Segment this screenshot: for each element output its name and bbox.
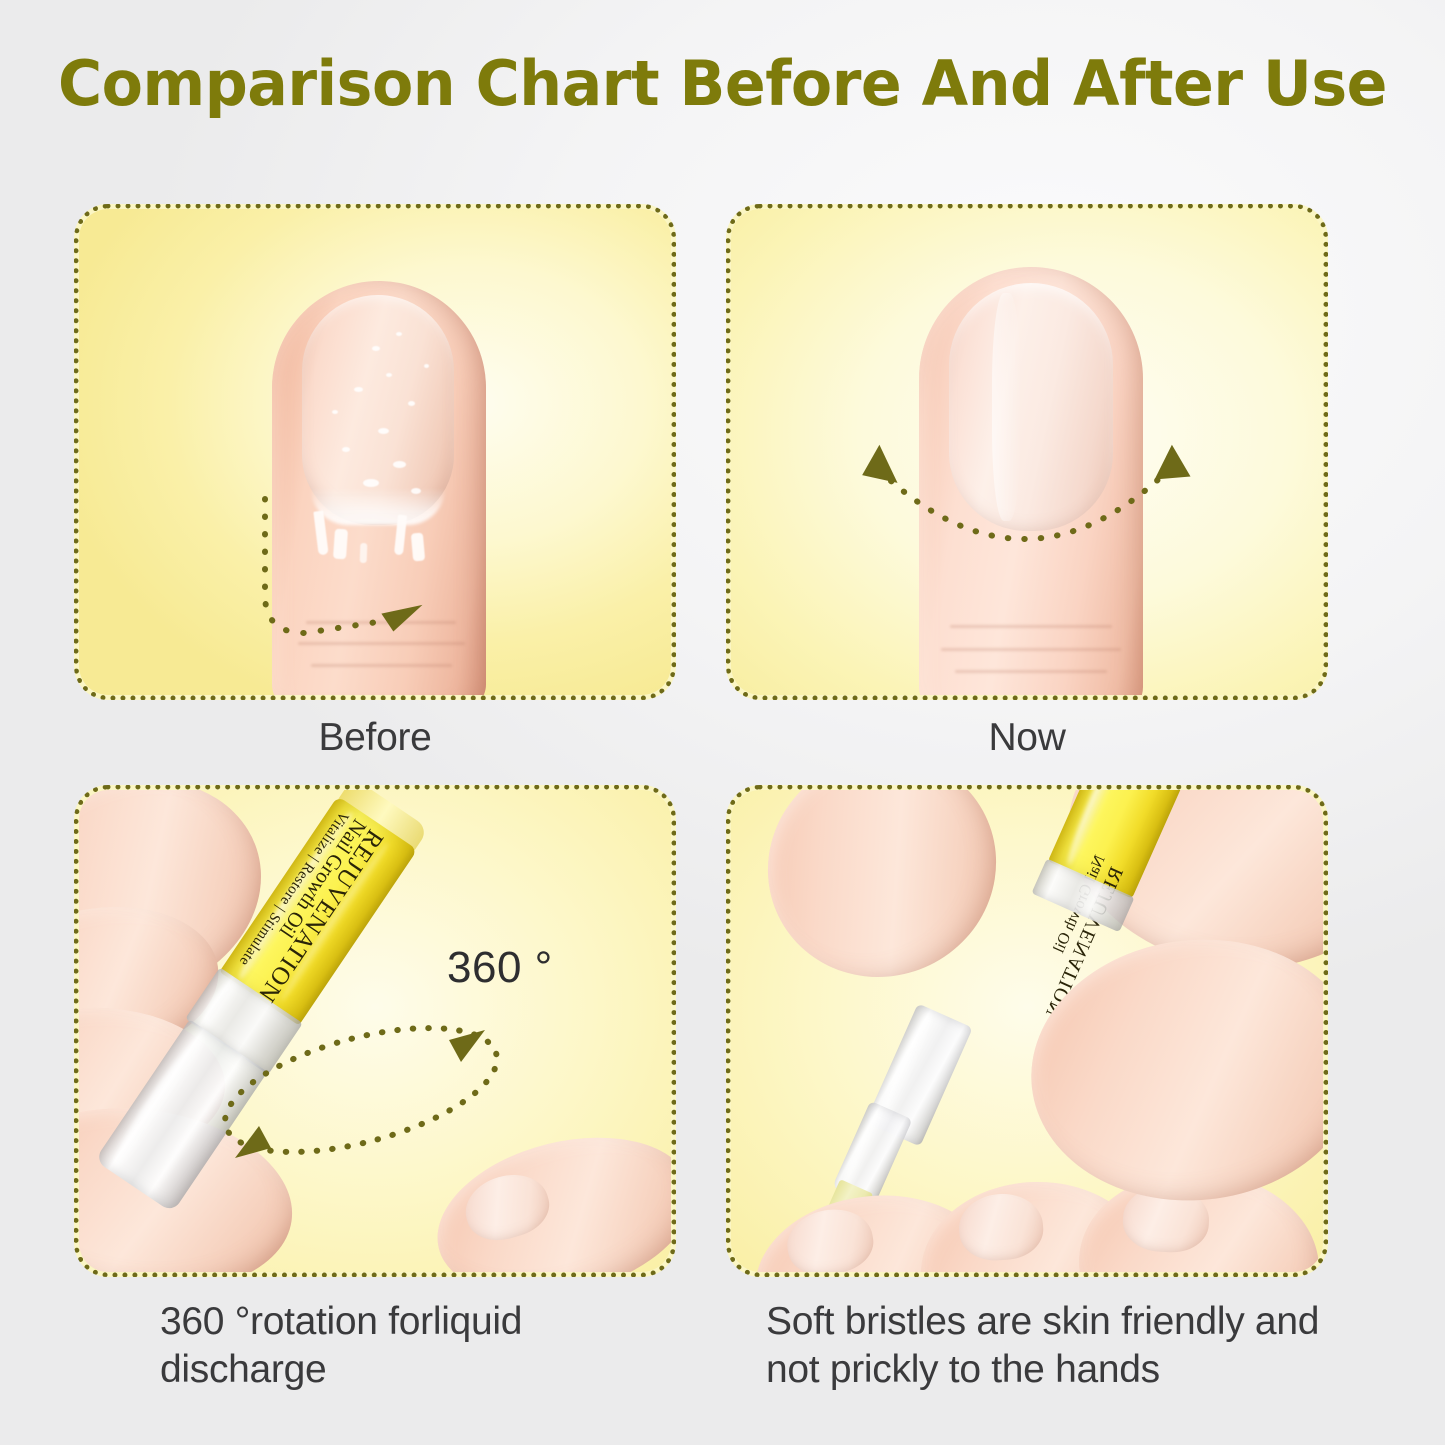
page-title: Comparison Chart Before And After Use [22,46,1424,122]
finger-now-image [919,267,1143,695]
cuticle-damage [300,509,460,587]
panel-before [74,204,676,700]
infographic-page: Comparison Chart Before And After Use [0,0,1445,1445]
caption-now: Now [726,714,1328,762]
panel-bristles: REJUVENATION Nail Growth Oil [726,785,1328,1277]
finger-before-image [272,281,486,695]
panel-now [726,204,1328,700]
nail-before [302,295,454,525]
caption-before: Before [74,714,676,762]
rotation-degree-badge: 360 ° [447,943,553,993]
nail-now [949,283,1113,531]
caption-rotation: 360 °rotation forliquid discharge [160,1298,680,1394]
panel-rotation: REJUVENATION Nail Growth Oil Vitalize | … [74,785,676,1277]
caption-bristles: Soft bristles are skin friendly and not … [766,1298,1326,1394]
